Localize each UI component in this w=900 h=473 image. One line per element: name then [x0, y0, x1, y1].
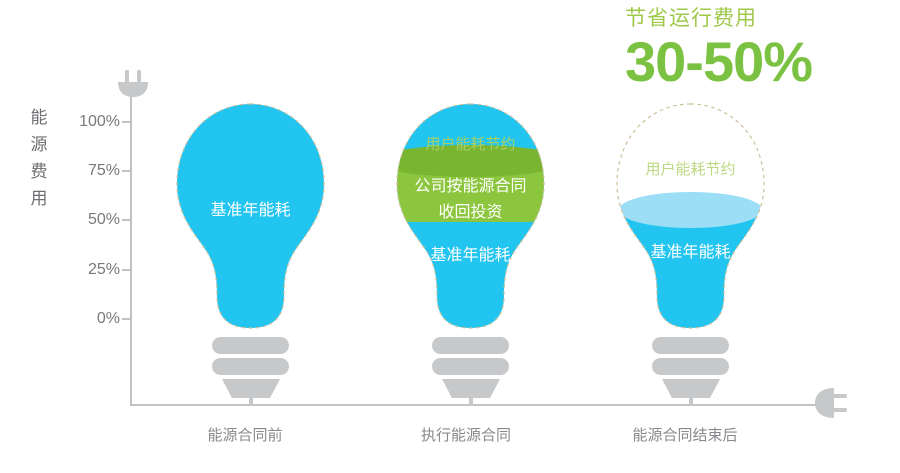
bulb-liquid-surface-3	[619, 192, 763, 228]
y-tick-mark-100	[122, 121, 131, 123]
x-tick-label-during: 执行能源合同	[376, 424, 556, 445]
power-plug-icon	[812, 386, 850, 420]
bulb-3-stem	[689, 394, 693, 406]
x-axis-line	[130, 404, 820, 406]
bulb-2-base-ring-2	[432, 358, 509, 375]
bulb-2-stem	[469, 394, 473, 406]
bulb-after-contract: 用户能耗节约 基准年能耗	[598, 100, 783, 335]
power-plug-icon	[116, 70, 150, 100]
x-tick-label-after: 能源合同结束后	[595, 424, 775, 445]
x-tick-label-before: 能源合同前	[155, 424, 335, 445]
y-tick-mark-25	[122, 269, 131, 271]
bulb-fill-baseline-3	[598, 212, 783, 335]
bulb-glass-2	[378, 100, 563, 335]
bulb-1-base-ring-1	[212, 337, 289, 354]
y-tick-mark-0	[122, 318, 131, 320]
y-axis-title-char-2: 源	[26, 131, 52, 158]
y-tick-mark-75	[122, 170, 131, 172]
y-tick-label-0: 0%	[66, 310, 120, 328]
bulb-1-base-ring-2	[212, 358, 289, 375]
y-axis-title-char-1: 能	[26, 104, 52, 131]
y-tick-label-50: 50%	[66, 211, 120, 229]
y-tick-label-75: 75%	[66, 162, 120, 180]
headline-value: 30-50%	[625, 32, 885, 92]
infographic-canvas: 节省运行费用 30-50% 能 源 费 用 100% 75% 50% 25% 0…	[0, 0, 900, 473]
y-axis-title-char-4: 用	[26, 185, 52, 212]
bulb-during-contract: 用户能耗节约 公司按能源合同 收回投资 基准年能耗	[378, 100, 563, 335]
bulb-fill-baseline-1	[158, 100, 343, 335]
bulb-3-base-ring-1	[652, 337, 729, 354]
bulb-glass-1	[158, 100, 343, 335]
bulb-glass-3	[598, 100, 783, 335]
bulb-fill-recovery-top-2	[378, 145, 563, 177]
bulb-1-stem	[249, 394, 253, 406]
y-tick-label-100: 100%	[66, 113, 120, 131]
y-axis-line	[130, 88, 132, 406]
headline-block: 节省运行费用 30-50%	[625, 6, 885, 92]
y-axis-title-char-3: 费	[26, 158, 52, 185]
y-tick-label-25: 25%	[66, 261, 120, 279]
headline-subtitle: 节省运行费用	[625, 6, 885, 32]
bulb-2-base-ring-1	[432, 337, 509, 354]
bulb-3-base-ring-2	[652, 358, 729, 375]
y-tick-mark-50	[122, 219, 131, 221]
bulb-before-contract: 基准年能耗	[158, 100, 343, 335]
y-axis-title: 能 源 费 用	[26, 104, 52, 212]
